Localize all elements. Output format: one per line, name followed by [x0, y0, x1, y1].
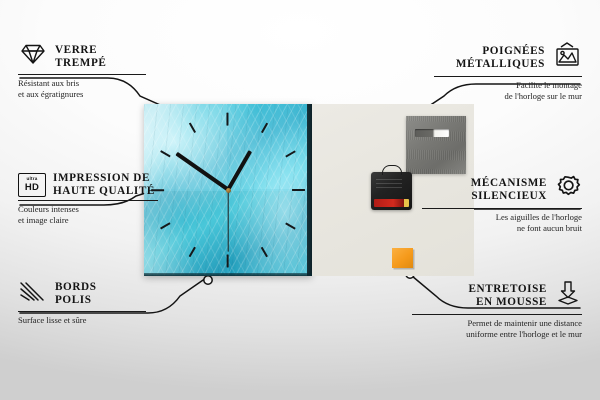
- feature-title-line2: MÉTALLIQUES: [456, 58, 545, 71]
- feature-title-line1: MÉCANISME: [471, 177, 547, 190]
- ultra-hd-badge-icon: ultra HD: [18, 173, 46, 197]
- endpoint-ring-bords-polis: [204, 276, 212, 284]
- press-down-foam-icon: [554, 280, 582, 311]
- polished-edges-icon: [18, 280, 48, 308]
- feature-title-line1: POIGNÉES: [456, 45, 545, 58]
- feature-title-line2: EN MOUSSE: [468, 296, 547, 309]
- hanger-slot: [415, 129, 449, 137]
- feature-title-line2: SILENCIEUX: [471, 190, 547, 203]
- feature-desc-line1: Couleurs intenses: [18, 204, 178, 215]
- feature-title-line2: POLIS: [55, 294, 97, 307]
- feature-rule: [18, 74, 146, 75]
- mechanism-hanging-loop: [382, 165, 402, 175]
- foam-spacer: [392, 248, 413, 268]
- infographic-canvas: VERRE TREMPÉ Résistant aux bris et aux é…: [0, 0, 600, 400]
- feature-desc-line1: Résistant aux bris: [18, 78, 168, 89]
- gear-icon: [554, 174, 582, 205]
- feature-title-line1: VERRE: [55, 44, 106, 57]
- feature-desc-line2: de l'horloge sur le mur: [412, 91, 582, 102]
- feature-rule: [18, 200, 158, 201]
- feature-title-line2: TREMPÉ: [55, 57, 106, 70]
- feature-rule: [412, 314, 582, 315]
- feature-desc-line2: et aux égratignures: [18, 89, 168, 100]
- feature-impression-haute-qualite: ultra HD IMPRESSION DE HAUTE QUALITÉ Cou…: [18, 172, 178, 226]
- picture-hanger-icon: [552, 42, 582, 73]
- feature-rule: [18, 311, 146, 312]
- feature-rule: [434, 76, 582, 77]
- feature-desc-line2: ne font aucun bruit: [402, 223, 582, 234]
- feature-title-line1: ENTRETOISE: [468, 283, 547, 296]
- feature-entretoise-en-mousse: ENTRETOISE EN MOUSSE Permet de maintenir…: [392, 280, 582, 339]
- diamond-icon: [18, 42, 48, 71]
- feature-bords-polis: BORDS POLIS Surface lisse et sûre: [18, 280, 168, 326]
- clock-second-hand: [227, 190, 228, 252]
- feature-desc-line1: Facilite le montage: [412, 80, 582, 91]
- feature-desc-line1: Permet de maintenir une distance: [392, 318, 582, 329]
- metal-hanging-plate: [406, 116, 466, 174]
- feature-desc-line2: et image claire: [18, 215, 178, 226]
- feature-desc-line2: uniforme entre l'horloge et le mur: [392, 329, 582, 340]
- feature-desc-line1: Surface lisse et sûre: [18, 315, 168, 326]
- mechanism-label: [376, 179, 402, 191]
- feature-poignees-metalliques: POIGNÉES MÉTALLIQUES Facilite le montage…: [412, 42, 582, 101]
- feature-rule: [422, 208, 582, 209]
- hd-badge-ultra-text: ultra: [27, 177, 38, 182]
- feature-title-line1: BORDS: [55, 281, 97, 294]
- feature-verre-trempe: VERRE TREMPÉ Résistant aux bris et aux é…: [18, 42, 168, 99]
- feature-mecanisme-silencieux: MÉCANISME SILENCIEUX Les aiguilles de l'…: [402, 174, 582, 233]
- feature-title-line2: HAUTE QUALITÉ: [53, 185, 155, 198]
- photo-bottom-edge: [144, 273, 312, 276]
- clock-tick: [292, 189, 305, 191]
- feature-title-line1: IMPRESSION DE: [53, 172, 155, 185]
- feature-desc-line1: Les aiguilles de l'horloge: [402, 212, 582, 223]
- clock-center-cap: [226, 188, 231, 193]
- hd-badge-hd-text: HD: [25, 183, 39, 193]
